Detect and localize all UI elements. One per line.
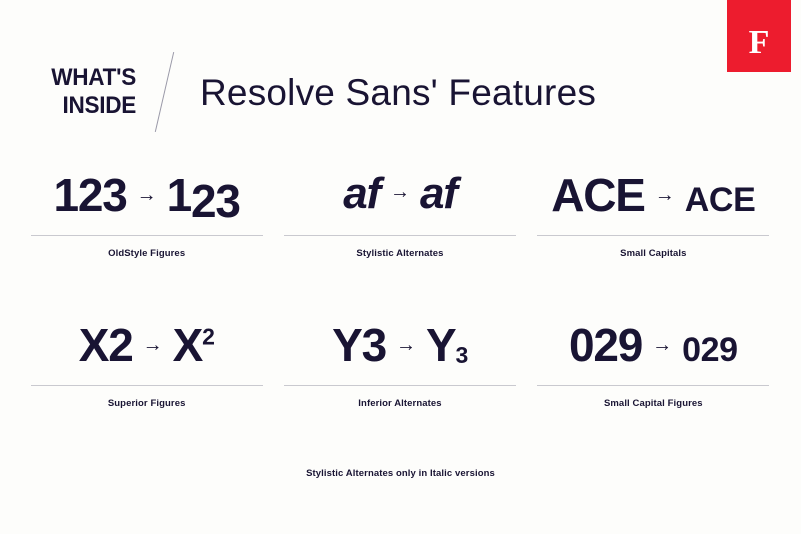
feature-label: Inferior Alternates	[358, 398, 441, 409]
glyph-before: 029	[569, 322, 642, 368]
glyph-after: ACE	[685, 183, 756, 217]
glyph-after-head: 1	[167, 169, 191, 221]
arrow-right-icon: →	[390, 182, 410, 202]
sample-row: ACE → ACE	[537, 172, 769, 236]
feature-label: OldStyle Figures	[108, 248, 185, 259]
feature-oldstyle-figures: 123 → 123 OldStyle Figures	[20, 172, 273, 322]
sample-row: Y3 → Y3	[284, 322, 516, 386]
glyph-after: 029	[682, 333, 738, 367]
glyph-before: 123	[53, 172, 126, 218]
slide-canvas: { "brand": { "logo_letter": "F", "logo_c…	[0, 0, 801, 534]
glyph-after: af	[420, 172, 457, 216]
arrow-right-icon: →	[137, 185, 157, 205]
glyph-before: Y3	[332, 322, 386, 368]
feature-label: Small Capitals	[620, 248, 686, 259]
header: WHAT'S INSIDE Resolve Sans' Features	[34, 52, 754, 132]
glyph-after-base: X	[173, 319, 202, 371]
sample-row: 029 → 029	[537, 322, 769, 386]
sample-row: af → af	[284, 172, 516, 236]
glyph-after-subscript: 3	[455, 342, 467, 368]
glyph-before: af	[343, 172, 380, 216]
glyph-after: Y3	[426, 322, 468, 368]
header-kicker: WHAT'S INSIDE	[40, 64, 136, 121]
glyph-before: ACE	[551, 172, 645, 218]
feature-inferior-alternates: Y3 → Y3 Inferior Alternates	[273, 322, 526, 472]
feature-small-capital-figures: 029 → 029 Small Capital Figures	[527, 322, 780, 472]
feature-label: Small Capital Figures	[604, 398, 703, 409]
glyph-before: X2	[79, 322, 133, 368]
feature-label: Stylistic Alternates	[356, 248, 443, 259]
arrow-right-icon: →	[396, 335, 416, 355]
arrow-right-icon: →	[655, 185, 675, 205]
feature-grid: 123 → 123 OldStyle Figures af → af Styli…	[20, 172, 780, 472]
page-title: Resolve Sans' Features	[200, 72, 596, 114]
glyph-after-superscript: 2	[202, 324, 214, 350]
footnote: Stylistic Alternates only in Italic vers…	[0, 468, 801, 479]
glyph-after-base: Y	[426, 319, 455, 371]
feature-small-capitals: ACE → ACE Small Capitals	[527, 172, 780, 322]
sample-row: 123 → 123	[31, 172, 263, 236]
glyph-after: X2	[173, 322, 215, 368]
feature-label: Superior Figures	[108, 398, 186, 409]
glyph-after-lowered: 23	[191, 175, 240, 227]
glyph-after: 123	[167, 172, 240, 218]
header-kicker-line-2: INSIDE	[40, 92, 136, 120]
arrow-right-icon: →	[652, 335, 672, 355]
sample-row: X2 → X2	[31, 322, 263, 386]
feature-stylistic-alternates: af → af Stylistic Alternates	[273, 172, 526, 322]
arrow-right-icon: →	[143, 335, 163, 355]
feature-superior-figures: X2 → X2 Superior Figures	[20, 322, 273, 472]
header-slash-divider	[136, 51, 194, 133]
header-kicker-line-1: WHAT'S	[40, 64, 136, 92]
